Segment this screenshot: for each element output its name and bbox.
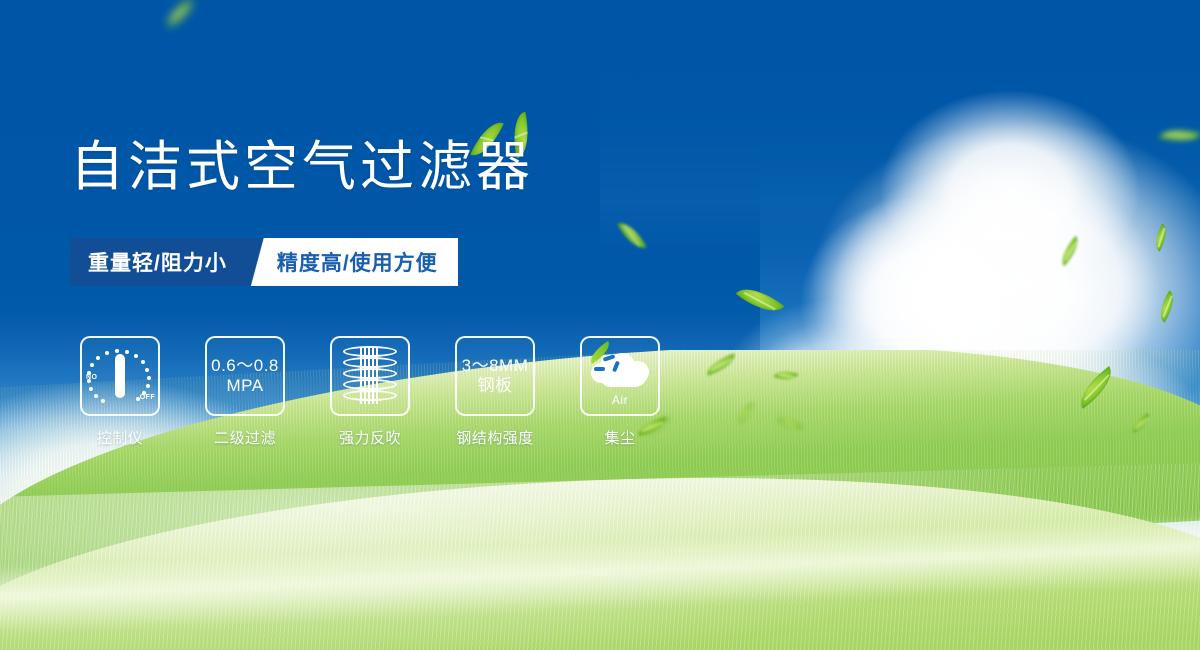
- air-label: Air: [589, 393, 651, 407]
- feature-item[interactable]: 0.6〜0.8 MPA 二级过滤: [195, 336, 295, 448]
- subtitle-primary: 重量轻/阻力小: [70, 238, 247, 286]
- steel-plate-icon: 3〜8MM 钢板: [462, 356, 529, 396]
- feature-icon-card: NO OFF: [80, 336, 160, 416]
- page-title: 自洁式空气过滤器: [70, 140, 534, 194]
- feature-icon-card: [330, 336, 410, 416]
- feature-item[interactable]: 3〜8MM 钢板 钢结构强度: [445, 336, 545, 448]
- air-cloud-icon: Air: [589, 347, 651, 405]
- banner-content: 自洁式空气过滤器 重量轻/阻力小 精度高/使用方便: [0, 0, 1200, 650]
- gauge-label-no: NO: [86, 374, 97, 381]
- gauge-needle: [115, 354, 125, 398]
- feature-label: 钢结构强度: [456, 427, 534, 448]
- feature-item[interactable]: Air 集尘: [570, 336, 670, 448]
- feature-item[interactable]: 强力反吹: [320, 336, 420, 448]
- product-banner: 自洁式空气过滤器 重量轻/阻力小 精度高/使用方便: [0, 0, 1200, 650]
- pressure-icon: 0.6〜0.8 MPA: [211, 356, 279, 396]
- gauge-label-off: OFF: [140, 394, 155, 401]
- coil-icon: [343, 346, 397, 406]
- gauge-icon: NO OFF: [87, 347, 153, 405]
- feature-icon-card: 0.6〜0.8 MPA: [205, 336, 285, 416]
- feature-icon-card: 3〜8MM 钢板: [455, 336, 535, 416]
- feature-item[interactable]: NO OFF 控制仪: [70, 336, 170, 448]
- subtitle-bar: 重量轻/阻力小 精度高/使用方便: [70, 238, 458, 286]
- feature-list: NO OFF 控制仪 0.6〜0.8 MPA 二级过滤: [70, 336, 670, 448]
- feature-label: 集尘: [604, 427, 635, 448]
- feature-label: 控制仪: [97, 427, 144, 448]
- feature-icon-card: Air: [580, 336, 660, 416]
- subtitle-secondary: 精度高/使用方便: [273, 238, 458, 286]
- subtitle-divider: [247, 238, 273, 286]
- feature-label: 二级过滤: [214, 427, 276, 448]
- feature-label: 强力反吹: [339, 427, 401, 448]
